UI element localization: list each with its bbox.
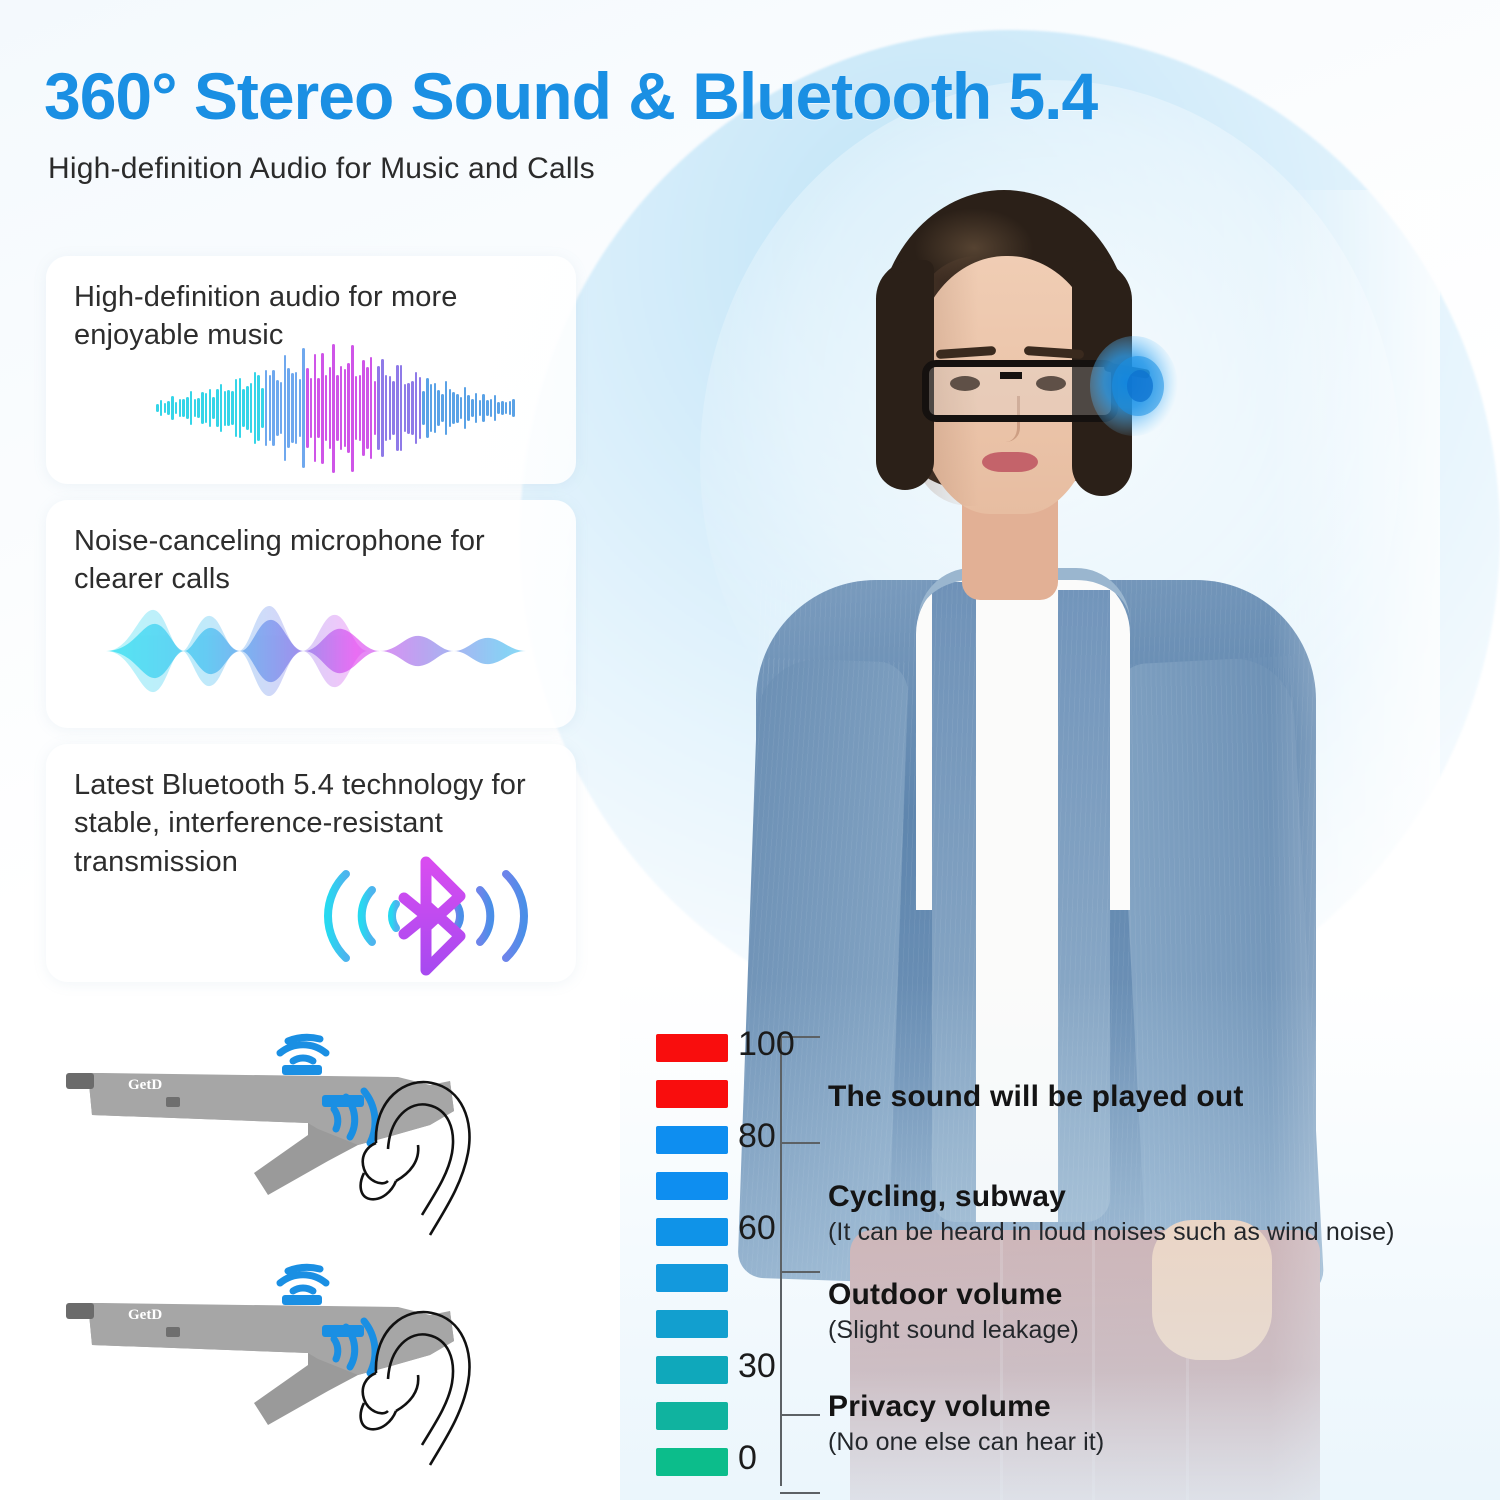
volume-tick-label-30: 30: [738, 1347, 776, 1386]
volume-zone-note: (No one else can hear it): [828, 1428, 1104, 1457]
volume-zone-2: Cycling, subway(It can be heard in loud …: [828, 1180, 1395, 1247]
zone-bracket: [780, 1034, 806, 1486]
volume-bar-40: [656, 1310, 728, 1338]
eyeglasses-bridge: [1000, 372, 1022, 379]
soundwave-envelope-icon: [106, 596, 561, 706]
volume-tick-label-100: 100: [738, 1025, 795, 1064]
volume-zone-title: Privacy volume: [828, 1390, 1104, 1424]
volume-zone-note: (It can be heard in loud noises such as …: [828, 1218, 1395, 1247]
sound-emission-icon: [1086, 330, 1196, 450]
volume-bar-30: [656, 1356, 728, 1384]
volume-tick-label-0: 0: [738, 1439, 757, 1478]
volume-level-chart: The sound will be played outCycling, sub…: [650, 1028, 1470, 1494]
volume-bar-60: [656, 1218, 728, 1246]
feature-card-bluetooth-art: [286, 852, 566, 980]
bracket-tick-4: [780, 1492, 820, 1494]
feature-card-microphone-art: [46, 594, 576, 720]
bluetooth-icon: [286, 852, 566, 980]
bracket-tick-2: [780, 1271, 820, 1273]
volume-bar-50: [656, 1264, 728, 1292]
feature-card-audio-text: High-definition audio for more enjoyable…: [74, 278, 574, 355]
speaker-port-top-2: [282, 1295, 322, 1305]
lips: [982, 452, 1038, 472]
speaker-port-top-1: [282, 1065, 322, 1075]
volume-zone-title: The sound will be played out: [828, 1080, 1244, 1114]
volume-zone-title: Outdoor volume: [828, 1278, 1079, 1312]
volume-zone-4: Privacy volume(No one else can hear it): [828, 1390, 1104, 1457]
page-title: 360° Stereo Sound & Bluetooth 5.4: [44, 58, 1097, 134]
volume-tick-label-80: 80: [738, 1117, 776, 1156]
volume-bar-20: [656, 1402, 728, 1430]
volume-bar-70: [656, 1172, 728, 1200]
glasses-diagram-high-volume: GetD: [58, 1025, 598, 1250]
sound-waves-up-1: [280, 1037, 326, 1061]
volume-zone-3: Outdoor volume(Slight sound leakage): [828, 1278, 1079, 1345]
page-subtitle: High-definition Audio for Music and Call…: [48, 152, 595, 186]
volume-zone-note: (Slight sound leakage): [828, 1316, 1079, 1345]
volume-bar-100: [656, 1034, 728, 1062]
volume-zone-labels: The sound will be played outCycling, sub…: [828, 1028, 1468, 1494]
feature-card-audio: High-definition audio for more enjoyable…: [46, 256, 576, 484]
volume-bar-90: [656, 1080, 728, 1108]
feature-card-microphone-text: Noise-canceling microphone for clearer c…: [74, 522, 574, 599]
volume-bar-80: [656, 1126, 728, 1154]
sound-waves-up-2: [280, 1267, 326, 1291]
glasses-diagram-low-volume: GetD: [58, 1255, 598, 1480]
volume-zone-1: The sound will be played out: [828, 1080, 1244, 1114]
bracket-tick-3: [780, 1414, 820, 1416]
volume-bar-stack: [650, 1028, 730, 1494]
bracket-tick-1: [780, 1142, 820, 1144]
brand-label-1: GetD: [128, 1077, 162, 1093]
feature-card-audio-art: [46, 350, 576, 476]
brand-label-2: GetD: [128, 1307, 162, 1323]
volume-zone-title: Cycling, subway: [828, 1180, 1395, 1214]
feature-card-microphone: Noise-canceling microphone for clearer c…: [46, 500, 576, 728]
feature-card-bluetooth: Latest Bluetooth 5.4 technology for stab…: [46, 744, 576, 982]
waveform-bars-icon: [156, 348, 516, 468]
infographic-canvas: 360° Stereo Sound & Bluetooth 5.4 High-d…: [0, 0, 1500, 1500]
volume-bar-0: [656, 1448, 728, 1476]
volume-tick-label-60: 60: [738, 1209, 776, 1248]
